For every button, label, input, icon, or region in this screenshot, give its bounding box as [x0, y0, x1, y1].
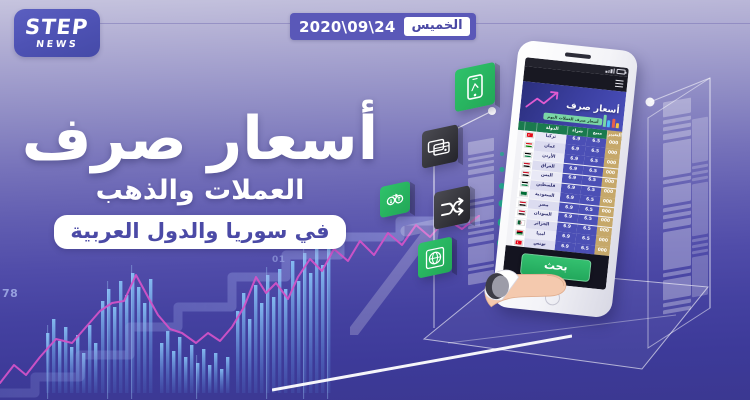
- dot: [500, 167, 505, 172]
- battery-icon: [616, 69, 625, 75]
- country-flag-icon: [523, 130, 536, 140]
- credit-cards-icon[interactable]: [422, 124, 458, 169]
- tile-edge: [458, 125, 463, 165]
- country-flag-icon: [519, 169, 532, 179]
- step-news-logo[interactable]: STEP NEWS: [14, 9, 100, 57]
- tile-edge: [410, 182, 415, 216]
- country-flag-icon: [515, 208, 528, 218]
- banner-chart-bars-icon: [602, 115, 620, 129]
- banner-growth-arrow-icon: [524, 86, 561, 115]
- country-flag-icon: [522, 140, 535, 150]
- dot: [500, 152, 504, 156]
- date-value: 2020\09\24: [299, 18, 395, 36]
- globe-passport-icon[interactable]: [418, 236, 452, 278]
- mobile-phone-icon[interactable]: [455, 62, 495, 113]
- region-badge: في سوريا والدول العربية: [54, 215, 345, 249]
- smartphone-mockup[interactable]: أسعار صرف أسعار صرف العملات اليوم التغيي…: [491, 39, 638, 318]
- search-button[interactable]: بحث: [520, 253, 592, 282]
- table-body: 0006.56.9تركيا 0006.56.9عمان 0006.56.9ال…: [505, 129, 622, 266]
- signal-icon: [605, 68, 614, 74]
- logo-step-text: STEP: [24, 17, 90, 38]
- tile-edge: [495, 63, 500, 108]
- chart-axis-label-01: 01: [272, 255, 286, 265]
- tile-edge: [470, 186, 475, 226]
- barcode-panel-right-thin: [692, 117, 708, 301]
- headline-block: أسعار صرف العملات والذهب في سوريا والدول…: [0, 108, 400, 249]
- money-exchange-icon[interactable]: [380, 181, 410, 218]
- hamburger-menu-icon[interactable]: [615, 80, 624, 88]
- page-title: أسعار صرف: [0, 108, 400, 171]
- country-flag-icon: [518, 179, 531, 189]
- country-flag-icon: [521, 149, 534, 159]
- page-subtitle: العملات والذهب: [0, 175, 400, 206]
- country-flag-icon: [517, 188, 530, 198]
- chart-axis-label-78: 78: [2, 287, 18, 300]
- country-flag-icon: [520, 159, 533, 169]
- tile-edge: [452, 237, 457, 275]
- country-flag-icon: [514, 218, 527, 228]
- app-title: أسعار صرف: [566, 101, 620, 116]
- logo-news-text: NEWS: [35, 40, 78, 50]
- poster-canvas: 78 01: [0, 0, 750, 400]
- weekday-badge: الخميس: [404, 17, 469, 36]
- exchange-rate-table: التغيير مبيع شراء الدولة 0006.56.9تركيا …: [505, 121, 623, 266]
- currency-swap-icon[interactable]: [434, 185, 470, 230]
- country-flag-icon: [513, 227, 526, 237]
- barcode-panel-right: [663, 98, 691, 318]
- app-subtitle: أسعار صرف العملات اليوم: [543, 112, 603, 125]
- date-bar: 2020\09\24 الخميس: [290, 13, 476, 40]
- country-flag-icon: [516, 198, 529, 208]
